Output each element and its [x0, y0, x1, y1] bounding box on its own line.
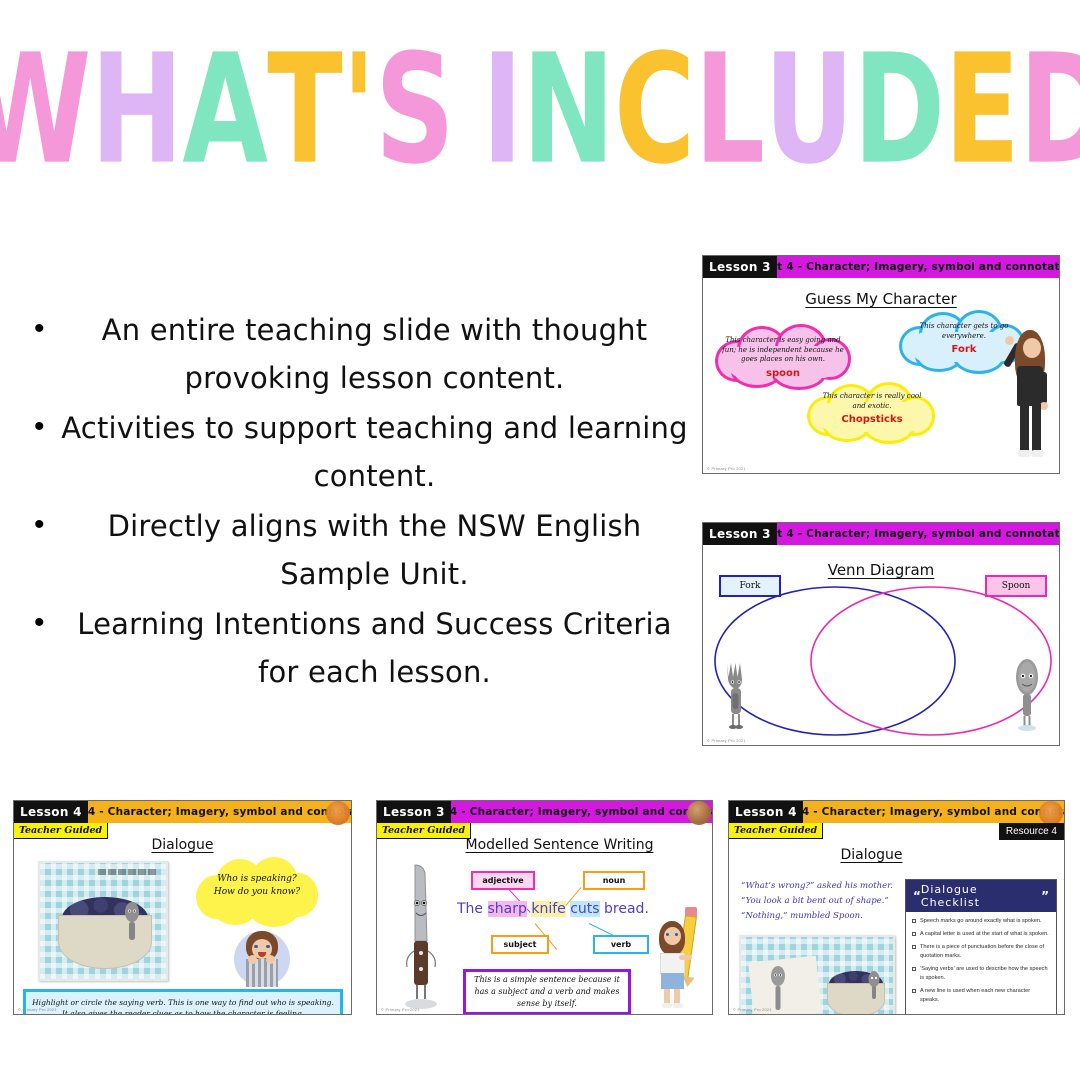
checklist-item-label: There is a piece of punctuation before t…	[920, 943, 1050, 961]
list-item[interactable]: There is a piece of punctuation before t…	[912, 943, 1050, 961]
title-letter-14: D	[1019, 33, 1080, 184]
tag-noun: noun	[583, 871, 645, 890]
slide-thumbnail-guess-my-character[interactable]: Lesson 3 Unit 4 - Character; Imagery, sy…	[702, 255, 1060, 474]
list-item[interactable]: A new line is used when each new charact…	[912, 987, 1050, 1005]
list-item[interactable]: A capital letter is used at the start of…	[912, 930, 1050, 939]
sentence-adjective: sharp	[488, 901, 527, 917]
spoon-character-icon	[1011, 657, 1043, 733]
copyright-note: © Primary Pro 2021	[18, 1007, 57, 1012]
list-item-label: Learning Intentions and Success Criteria…	[60, 600, 689, 696]
dialogue-line-1: “What’s wrong?” asked his mother.	[741, 879, 911, 894]
checklist-item-label: A new line is used when each new charact…	[920, 987, 1050, 1005]
title-letter-13: E	[945, 33, 1020, 184]
cloud-description: This character is easy going and fun; he…	[721, 336, 845, 365]
model-sentence: The sharp knife cuts bread.	[457, 901, 649, 917]
unit-banner: Unit 4 - Character; Imagery, symbol and …	[777, 256, 1059, 278]
list-item-label: Activities to support teaching and learn…	[60, 404, 689, 500]
slide-body: Teacher Guided Modelled Sentence Writing	[377, 823, 712, 1014]
lesson-badge: Lesson 4	[14, 801, 88, 823]
resource-badge: Resource 4	[999, 823, 1064, 840]
thought-cloud-spoon: This character is easy going and fun; he…	[713, 324, 853, 390]
thought-cloud-chopsticks: This character is really cool and exotic…	[807, 382, 937, 444]
checklist-header: “ Dialogue Checklist ”	[906, 880, 1056, 912]
spoon-bowl-photo	[739, 935, 895, 1015]
slide-body: Teacher Guided Dialogue	[14, 823, 351, 1014]
venn-label-spoon: Spoon	[985, 575, 1047, 597]
dialogue-passage: “What’s wrong?” asked his mother. “You l…	[741, 879, 911, 924]
title-letter-10: L	[695, 33, 765, 184]
blueberry-bowl-photo	[38, 861, 168, 981]
caption-line-2: It also gives the reader clues as to how…	[62, 1008, 304, 1015]
bullet-icon: •	[34, 502, 60, 548]
slide-title: Dialogue	[14, 837, 351, 853]
slide-body: Guess My Character This character is eas…	[703, 278, 1059, 473]
title-letter-2: A	[183, 33, 268, 184]
fox-decoration-icon	[1039, 801, 1063, 825]
instruction-caption: Highlight or circle the saying verb. Thi…	[23, 989, 343, 1015]
animal-decoration-icon	[687, 801, 711, 825]
title-letter-5: S	[375, 33, 454, 184]
thought-line-1: Who is speaking?	[206, 873, 308, 886]
explanation-box: This is a simple sentence because it has…	[463, 969, 631, 1015]
checklist-items: Speech marks go around exactly what is s…	[906, 912, 1056, 1014]
slide-header: Lesson 4 Unit 4 - Character; Imagery, sy…	[729, 801, 1064, 823]
sentence-lead: The	[457, 901, 488, 917]
checklist-title: Dialogue Checklist	[921, 883, 1041, 909]
page-title-text: WHAT'SINCLUDED	[0, 33, 1080, 184]
title-letter-3: T	[268, 33, 343, 184]
list-item: • Activities to support teaching and lea…	[34, 404, 689, 500]
page-title: WHAT'SINCLUDED	[0, 34, 1080, 184]
tag-verb: verb	[593, 935, 649, 954]
copyright-note: © Primary Pro 2021	[381, 1007, 420, 1012]
sentence-verb: cuts	[570, 901, 599, 917]
slide-thumbnail-modelled-sentence-writing[interactable]: Lesson 3 Unit 4 - Character; Imagery, sy…	[376, 800, 713, 1015]
slide-thumbnail-venn-diagram[interactable]: Lesson 3 Unit 4 - Character; Imagery, sy…	[702, 522, 1060, 746]
bullet-icon: •	[34, 404, 60, 450]
photo-inset-caption	[98, 869, 156, 875]
cloud-answer: Fork	[911, 344, 1017, 355]
title-letter-1: H	[91, 33, 183, 184]
list-item-label: An entire teaching slide with thought pr…	[60, 306, 689, 402]
title-letter-0: W	[0, 33, 91, 184]
title-letter-4: '	[342, 33, 375, 184]
slide-header: Lesson 3 Unit 4 - Character; Imagery, sy…	[703, 523, 1059, 545]
caption-line-1: Highlight or circle the saying verb. Thi…	[32, 997, 334, 1008]
slide-title: Dialogue	[769, 847, 974, 863]
dialogue-line-2: “You look a bit bent out of shape.”	[741, 894, 911, 909]
cloud-answer: Chopsticks	[819, 414, 925, 425]
list-item[interactable]: ‘Saying verbs’ are used to describe how …	[912, 965, 1050, 983]
sentence-object: bread.	[604, 901, 649, 917]
unit-banner: Unit 4 - Character; Imagery, symbol and …	[777, 523, 1059, 545]
dialogue-checklist: “ Dialogue Checklist ” Speech marks go a…	[905, 879, 1057, 1015]
title-letter-7: I	[482, 33, 522, 184]
unit-banner: Unit 4 - Character; Imagery, symbol and …	[451, 801, 712, 823]
tag-adjective: adjective	[471, 871, 535, 890]
checklist-item-label: A capital letter is used at the start of…	[920, 930, 1049, 939]
slide-body: Venn Diagram Fork Spoon	[703, 545, 1059, 745]
slide-header: Lesson 3 Unit 4 - Character; Imagery, sy…	[377, 801, 712, 823]
list-item: • An entire teaching slide with thought …	[34, 306, 689, 402]
lesson-badge: Lesson 4	[729, 801, 803, 823]
list-item: • Directly aligns with the NSW English S…	[34, 502, 689, 598]
slide-title: Guess My Character	[703, 290, 1059, 308]
venn-label-fork: Fork	[719, 575, 781, 597]
quote-close-icon: ”	[1041, 889, 1049, 903]
copyright-note: © Primary Pro 2021	[733, 1007, 772, 1012]
title-letter-12: D	[854, 33, 945, 184]
cloud-description: This character gets to go everywhere.	[911, 322, 1017, 341]
unit-banner: Unit 4 - Character; Imagery, symbol and …	[803, 801, 1064, 823]
cloud-answer: spoon	[721, 368, 845, 379]
title-letter-11: U	[764, 33, 853, 184]
bitmoji-pencil-girl-icon	[649, 907, 707, 1011]
features-bullet-list: • An entire teaching slide with thought …	[34, 306, 689, 698]
slide-thumbnail-dialogue-resource[interactable]: Lesson 4 Unit 4 - Character; Imagery, sy…	[728, 800, 1065, 1015]
bullet-icon: •	[34, 600, 60, 646]
title-letter-9: C	[614, 33, 694, 184]
venn-circles	[709, 579, 1055, 739]
lesson-badge: Lesson 3	[703, 523, 777, 545]
list-item[interactable]: Speech marks go around exactly what is s…	[912, 917, 1050, 926]
checklist-item-label: Speech marks go around exactly what is s…	[920, 917, 1042, 926]
bitmoji-shouting-icon	[228, 929, 294, 991]
unit-banner: Unit 4 - Character; Imagery, symbol and …	[88, 801, 351, 823]
slide-title: Modelled Sentence Writing	[417, 837, 702, 853]
checkbox-icon[interactable]	[912, 989, 916, 993]
slide-header: Lesson 4 Unit 4 - Character; Imagery, sy…	[14, 801, 351, 823]
fox-decoration-icon	[326, 801, 350, 825]
tag-subject: subject	[491, 935, 549, 954]
thought-line-2: How do you know?	[206, 886, 308, 899]
quote-open-icon: “	[913, 889, 921, 903]
lesson-badge: Lesson 3	[377, 801, 451, 823]
bullet-icon: •	[34, 306, 60, 352]
thought-cloud-question: Who is speaking? How do you know?	[196, 857, 318, 927]
checklist-item-label: ‘Saying verbs’ are used to describe how …	[920, 965, 1050, 983]
checkbox-icon[interactable]	[912, 919, 916, 923]
slide-body: Teacher Guided Resource 4 Dialogue “What…	[729, 823, 1064, 1014]
checkbox-icon[interactable]	[912, 967, 916, 971]
list-item: • Learning Intentions and Success Criter…	[34, 600, 689, 696]
fork-character-icon	[721, 661, 751, 733]
checkbox-icon[interactable]	[912, 945, 916, 949]
slide-header: Lesson 3 Unit 4 - Character; Imagery, sy…	[703, 256, 1059, 278]
list-item-label: Directly aligns with the NSW English Sam…	[60, 502, 689, 598]
sentence-subject: knife	[531, 901, 565, 917]
teacher-guided-badge: Teacher Guided	[729, 823, 823, 839]
dialogue-line-3: “Nothing,” mumbled Spoon.	[741, 909, 911, 924]
checkbox-icon[interactable]	[912, 932, 916, 936]
spoon-character-small-icon	[122, 901, 142, 943]
knife-character-icon	[401, 863, 443, 1013]
title-letter-8: N	[522, 33, 614, 184]
slide-thumbnail-dialogue-teacher-guided[interactable]: Lesson 4 Unit 4 - Character; Imagery, sy…	[13, 800, 352, 1015]
copyright-note: © Primary Pro 2021	[707, 738, 746, 743]
spoon-in-bowl-icon	[867, 971, 881, 1001]
spoon-on-napkin-icon	[769, 965, 787, 1013]
lesson-badge: Lesson 3	[703, 256, 777, 278]
cloud-description: This character is really cool and exotic…	[819, 392, 925, 411]
copyright-note: © Primary Pro 2021	[707, 466, 746, 471]
